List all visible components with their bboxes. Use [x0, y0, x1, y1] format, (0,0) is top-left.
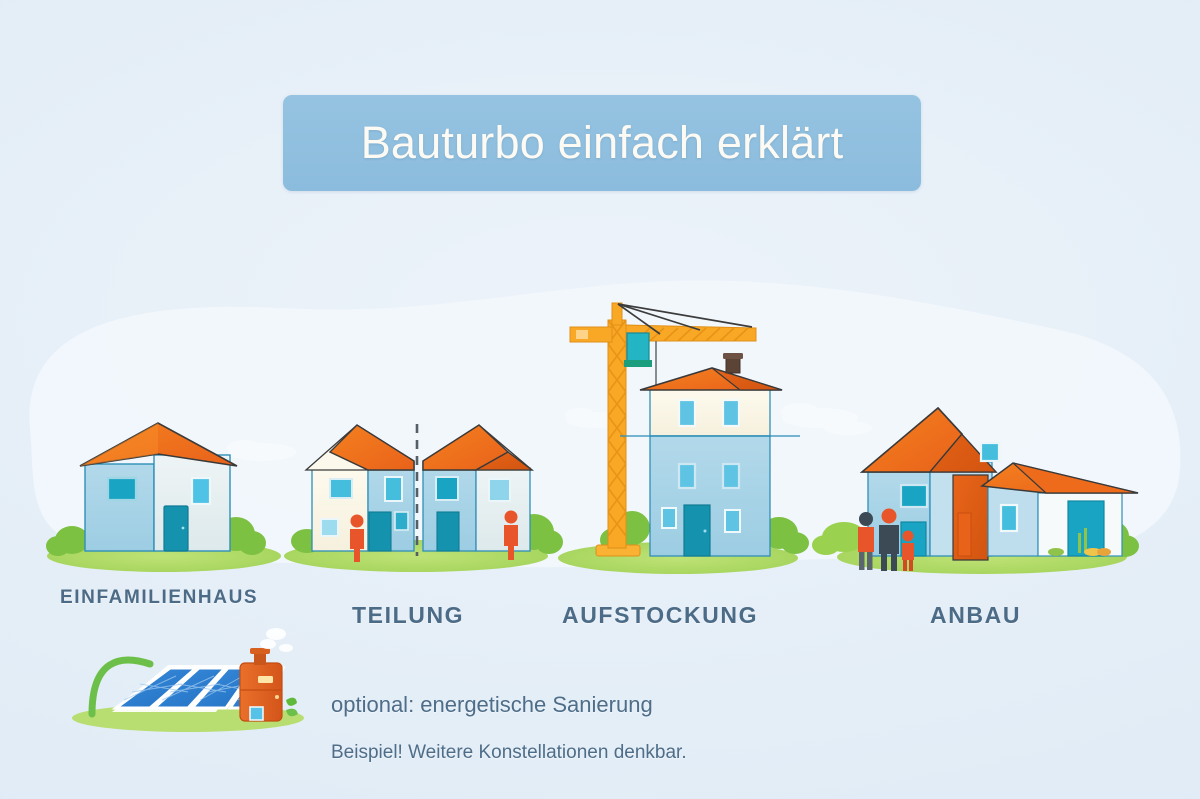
- infographic-canvas: Bauturbo einfach erklärt EINFAMILIENHAUS…: [0, 0, 1200, 799]
- stage-label-einfamilienhaus: EINFAMILIENHAUS: [60, 587, 258, 609]
- window: [725, 510, 740, 532]
- chimney-icon: [726, 357, 740, 373]
- page-title: Bauturbo einfach erklärt: [361, 117, 844, 169]
- window: [679, 464, 695, 488]
- window: [436, 477, 458, 500]
- heat-pump-icon: [240, 628, 298, 721]
- window: [1001, 505, 1017, 531]
- caption-sanierung: optional: energetische Sanierung: [331, 692, 653, 718]
- window: [321, 519, 338, 536]
- window: [723, 400, 739, 426]
- stage-label-aufstockung: AUFSTOCKUNG: [562, 602, 758, 629]
- stage-label-anbau: ANBAU: [930, 602, 1021, 629]
- window: [192, 478, 210, 504]
- window: [385, 477, 402, 501]
- window: [489, 479, 510, 501]
- window: [723, 464, 739, 488]
- window: [901, 485, 927, 507]
- new-top-floor: [650, 388, 770, 436]
- energetic-renovation-illustration: [72, 628, 304, 732]
- window: [981, 443, 999, 461]
- steam-icon: [260, 628, 293, 652]
- stage-label-teilung: TEILUNG: [352, 602, 464, 629]
- window: [330, 479, 352, 498]
- window: [395, 512, 408, 530]
- window: [662, 508, 676, 528]
- door: [369, 512, 391, 551]
- window: [108, 478, 136, 500]
- title-banner: Bauturbo einfach erklärt: [283, 95, 921, 191]
- window: [679, 400, 695, 426]
- door: [164, 506, 188, 551]
- caption-disclaimer: Beispiel! Weitere Konstellationen denkba…: [331, 742, 687, 764]
- door: [437, 512, 459, 551]
